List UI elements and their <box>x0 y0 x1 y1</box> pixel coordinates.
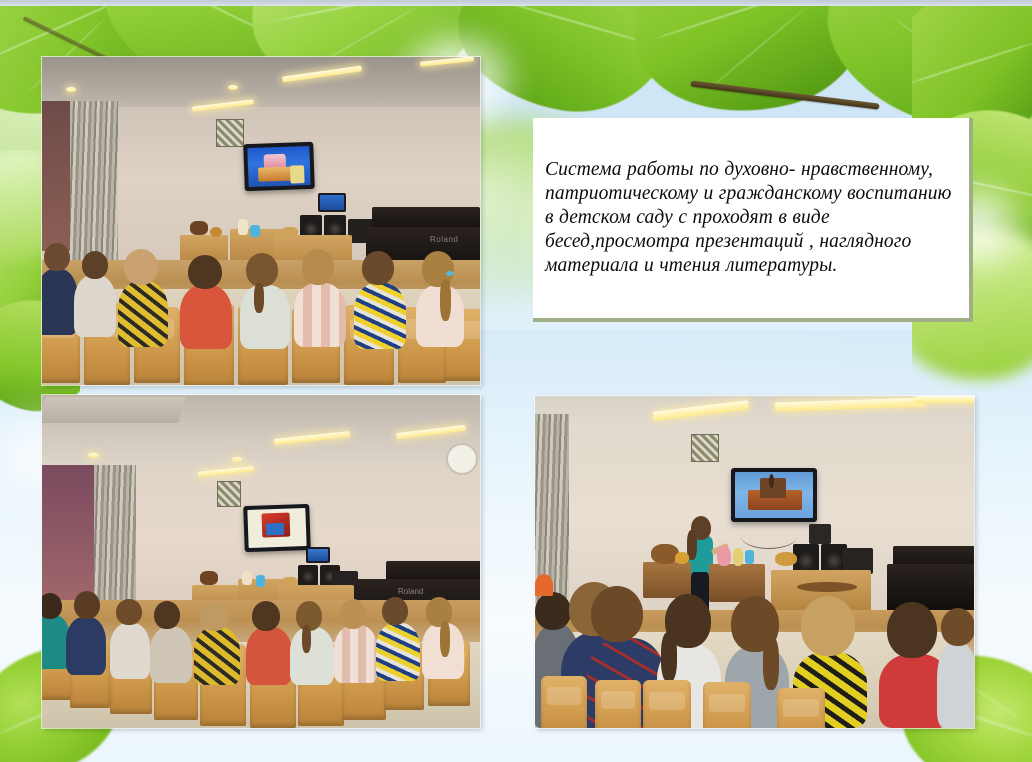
child <box>246 627 292 685</box>
child <box>354 283 406 349</box>
window-top-strip <box>0 0 1032 6</box>
child <box>376 623 420 681</box>
child <box>118 281 168 347</box>
child <box>74 275 116 337</box>
child <box>42 269 78 335</box>
photo-top-left: Roland <box>42 57 480 385</box>
child <box>110 623 150 679</box>
party-hat <box>535 574 553 596</box>
child <box>150 627 192 683</box>
child <box>66 617 106 675</box>
child <box>334 625 378 683</box>
wall-tv <box>243 504 311 552</box>
presentation-slide: Roland <box>0 0 1032 762</box>
child-foreground <box>937 642 974 728</box>
wall-tv <box>731 468 817 522</box>
wall-vent <box>216 119 244 147</box>
photo-bottom-left: Roland <box>42 395 480 728</box>
content-textbox[interactable]: Система работы по духовно- нравственному… <box>533 118 973 322</box>
wall-tv <box>243 142 315 191</box>
textbox-paragraph: Система работы по духовно- нравственному… <box>533 158 969 278</box>
branch-decoration <box>690 80 879 109</box>
wall-vent <box>691 434 719 462</box>
wall-clock <box>446 443 478 475</box>
child <box>294 283 346 347</box>
child <box>194 627 240 685</box>
photo-bottom-right <box>535 396 974 728</box>
child <box>240 285 290 349</box>
child <box>180 285 232 349</box>
child <box>290 627 334 685</box>
curtain <box>70 101 118 263</box>
